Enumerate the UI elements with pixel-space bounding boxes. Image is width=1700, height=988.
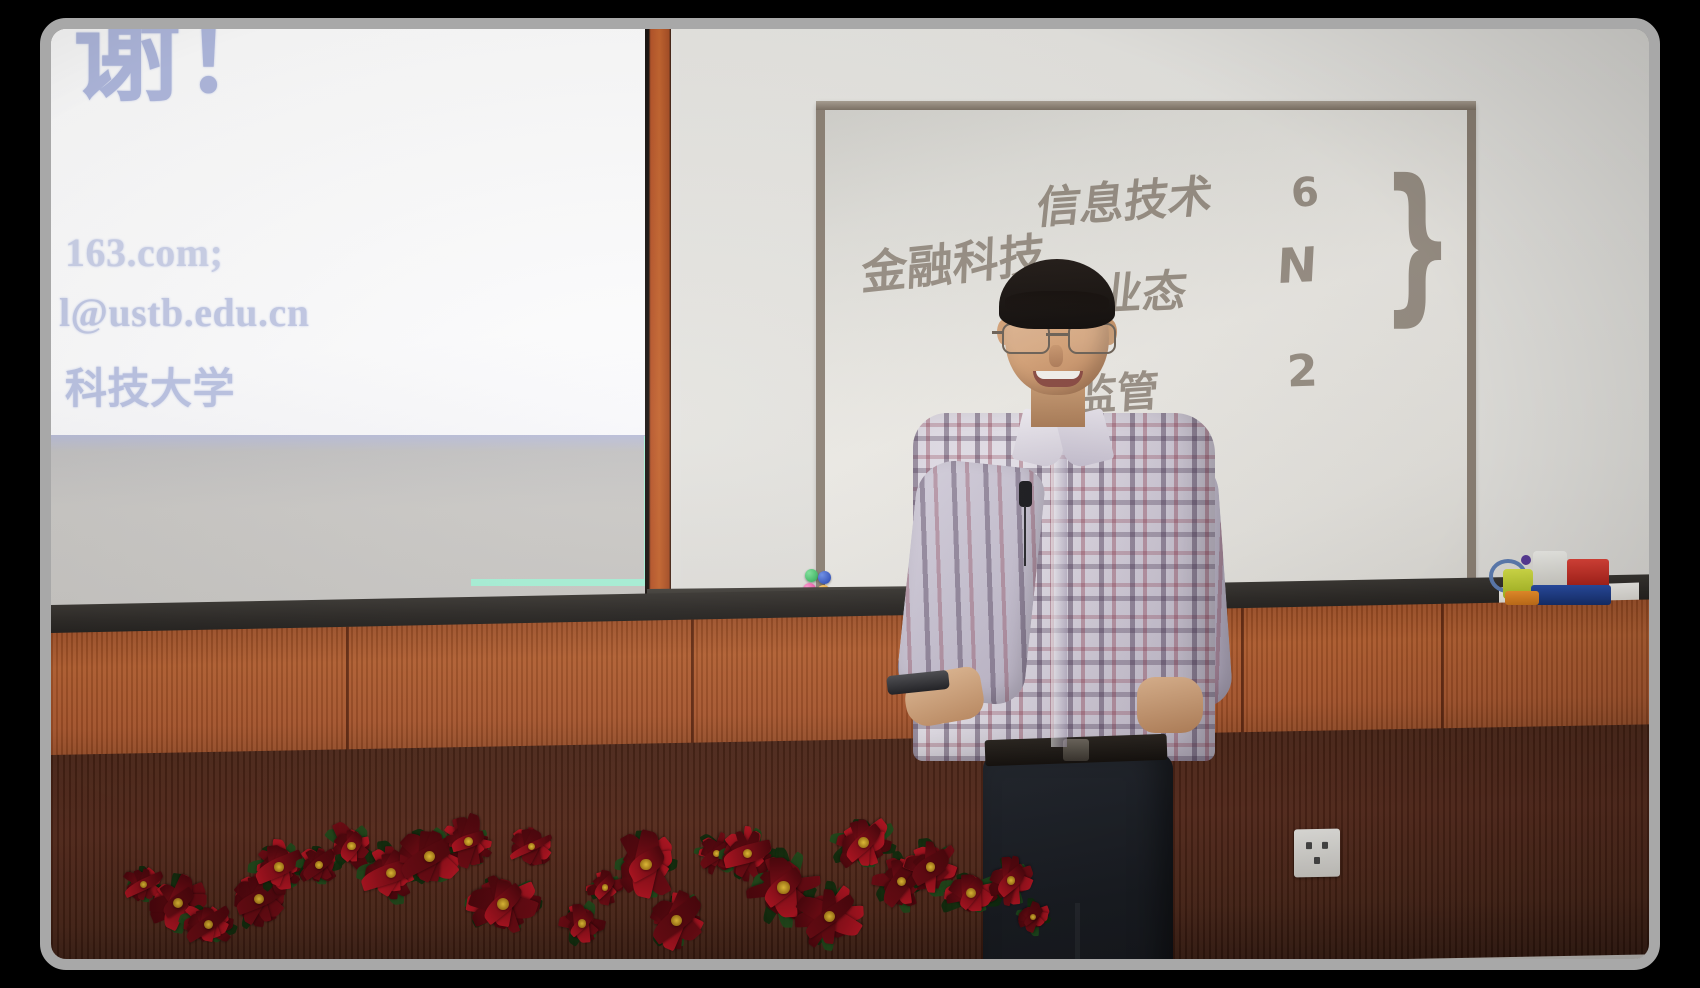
slide-title: 谢！ (73, 29, 290, 123)
poinsettia-center (347, 842, 356, 851)
lecture-hall-photo: 谢！ 163.com; l@ustb.edu.cn 科技大学 金融科技 信息技术… (51, 29, 1649, 959)
outlet-slot (1306, 842, 1312, 849)
glasses-temple (992, 331, 1003, 334)
whiteboard-note-6: N (1276, 237, 1319, 295)
desk-supplies (1469, 529, 1649, 604)
presenter-nose (1049, 345, 1063, 367)
poinsettia-center (173, 898, 183, 908)
slide-organization: 科技大学 (65, 355, 235, 416)
blue-box (1531, 585, 1611, 605)
slide-email-line-1: 163.com; (65, 229, 223, 276)
glasses-bridge (1046, 333, 1068, 336)
poinsettia-center (464, 837, 473, 846)
slide-accent-edge (471, 436, 645, 586)
whiteboard-note-5: 6 (1289, 169, 1320, 217)
screen-frame-right (645, 29, 671, 625)
lapel-microphone-icon (1019, 481, 1032, 507)
magnet-blue (818, 571, 831, 584)
poinsettia-center (386, 868, 396, 878)
whiteboard-brace: } (1381, 158, 1454, 328)
shirt-placket (1051, 447, 1067, 747)
outlet-slot (1322, 842, 1328, 849)
poinsettia-row (141, 799, 1071, 959)
purple-cap (1521, 555, 1531, 565)
presenter-hair (999, 259, 1115, 329)
poinsettia-center (274, 862, 283, 871)
projection-screen: 谢！ 163.com; l@ustb.edu.cn 科技大学 (51, 29, 645, 617)
poinsettia-center (315, 861, 323, 869)
power-outlet-icon (1294, 829, 1340, 878)
presenter-right-hand (1137, 677, 1203, 733)
poinsettia-center (578, 919, 586, 927)
magnet-green (805, 569, 818, 582)
slide-email-line-2: l@ustb.edu.cn (59, 289, 309, 336)
photo-frame: 谢！ 163.com; l@ustb.edu.cn 科技大学 金融科技 信息技术… (40, 18, 1660, 970)
whiteboard-note-2: 信息技术 (1034, 160, 1216, 237)
poinsettia-center (424, 851, 435, 862)
orange-item (1505, 591, 1539, 605)
poinsettia-center (640, 859, 652, 871)
whiteboard-note-7: 2 (1286, 345, 1318, 397)
poinsettia-center (777, 881, 789, 893)
poinsettia-center (824, 911, 835, 922)
poinsettia-center (743, 849, 752, 858)
outlet-slot (1314, 857, 1320, 864)
poinsettia-center (204, 920, 213, 929)
poinsettia-center (602, 884, 609, 891)
